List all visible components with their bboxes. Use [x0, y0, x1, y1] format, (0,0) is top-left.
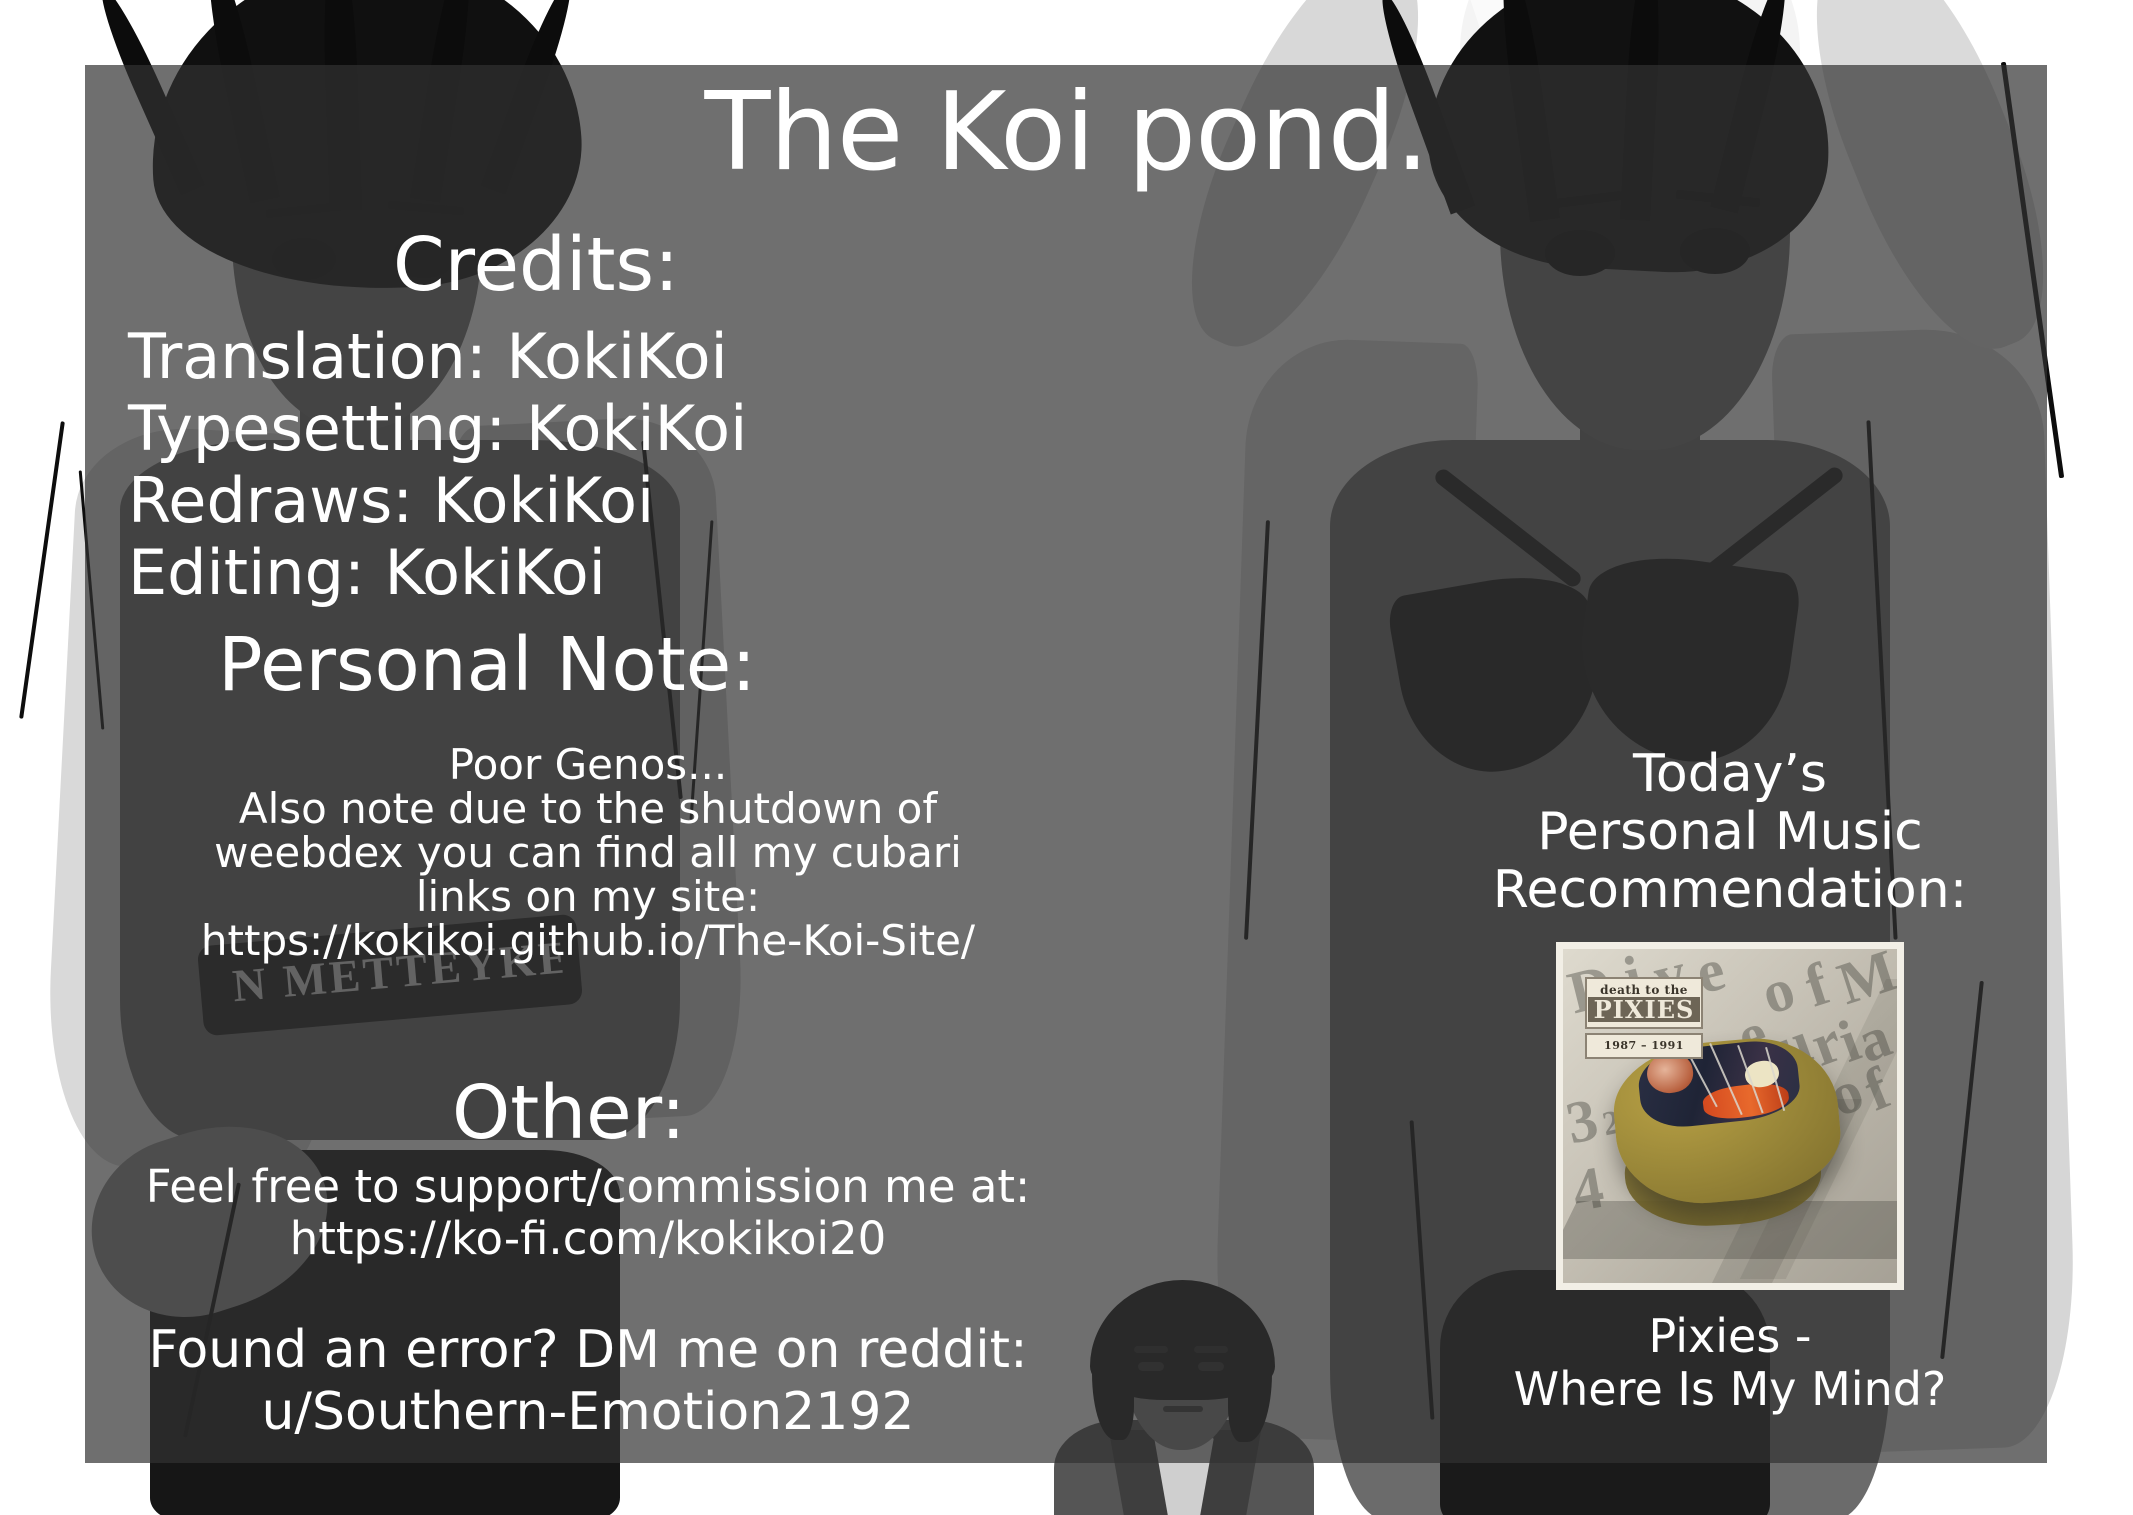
album-years: 1987 – 1991: [1604, 1039, 1684, 1052]
personal-note-line: weebdex you can find all my cubari: [48, 828, 1128, 877]
album-cover-art: D i v e o f M e u r i a o f 3 2 V 4: [1563, 949, 1897, 1283]
album-title-box: death to the PIXIES: [1585, 977, 1703, 1029]
music-heading-line: Personal Music: [1420, 803, 2040, 861]
album-bg-letter: 3: [1560, 1084, 1604, 1158]
music-heading-line: Recommendation:: [1420, 861, 2040, 919]
contact-reddit-handle[interactable]: u/Southern-Emotion2192: [48, 1382, 1128, 1442]
contact-prompt: Found an error? DM me on reddit:: [48, 1320, 1128, 1380]
credits-line-editing: Editing: KokiKoi: [128, 536, 606, 609]
music-caption-track: Where Is My Mind?: [1420, 1363, 2040, 1416]
other-support-line: Feel free to support/commission me at:: [48, 1160, 1128, 1213]
personal-note-site-link[interactable]: https://kokikoi.github.io/The-Koi-Site/: [48, 916, 1128, 965]
personal-note-line: Poor Genos...: [48, 740, 1128, 789]
other-kofi-link[interactable]: https://ko-fi.com/kokikoi20: [48, 1212, 1128, 1265]
credits-text-layer: The Koi pond. Credits: Translation: Koki…: [0, 0, 2133, 1515]
credits-line-redraws: Redraws: KokiKoi: [128, 464, 654, 537]
album-band-name: PIXIES: [1588, 997, 1701, 1022]
page-title: The Koi pond.: [0, 70, 2133, 195]
music-heading-line: Today’s: [1420, 745, 2040, 803]
personal-note-line: Also note due to the shutdown of: [48, 784, 1128, 833]
credits-line-typesetting: Typesetting: KokiKoi: [128, 392, 747, 465]
personal-note-line: links on my site:: [48, 872, 1128, 921]
album-cover-frame[interactable]: D i v e o f M e u r i a o f 3 2 V 4: [1556, 942, 1904, 1290]
music-recommendation-block: Today’s Personal Music Recommendation: D…: [1420, 745, 2040, 1416]
album-years-box: 1987 – 1991: [1585, 1033, 1703, 1059]
music-caption: Pixies - Where Is My Mind?: [1420, 1310, 2040, 1417]
other-heading: Other:: [452, 1070, 686, 1156]
credits-line-translation: Translation: KokiKoi: [128, 320, 728, 393]
music-caption-artist: Pixies -: [1420, 1310, 2040, 1363]
personal-note-heading: Personal Note:: [218, 622, 756, 708]
credits-heading: Credits:: [393, 222, 679, 308]
